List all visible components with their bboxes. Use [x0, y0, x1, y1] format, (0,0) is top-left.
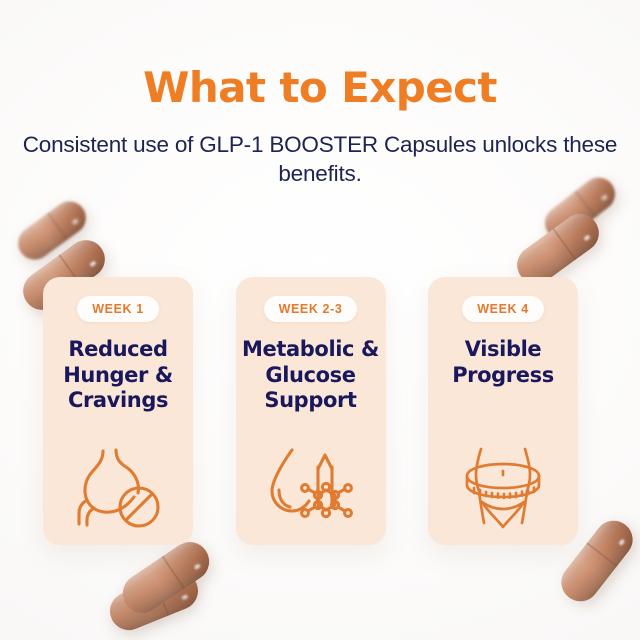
page-subtitle-text: Consistent use of GLP-1 BOOSTER Capsules… — [23, 132, 617, 186]
benefit-title: Metabolic & Glucose Support — [236, 337, 386, 414]
benefit-card-week-2-3[interactable]: WEEK 2-3 Metabolic & Glucose Support — [236, 277, 386, 545]
week-badge: WEEK 1 — [77, 296, 159, 322]
header: What to Expect Consistent use of GLP-1 B… — [0, 66, 640, 188]
week-badge: WEEK 2-3 — [264, 296, 358, 322]
benefit-title: Visible Progress — [428, 337, 578, 388]
page-subtitle: Consistent use of GLP-1 BOOSTER Capsules… — [0, 130, 640, 189]
page-title: What to Expect — [0, 66, 640, 111]
waist-measuring-tape-icon — [428, 439, 578, 531]
benefit-title: Reduced Hunger & Cravings — [43, 337, 193, 414]
benefit-card-week-1[interactable]: WEEK 1 Reduced Hunger & Cravings — [43, 277, 193, 545]
benefit-card-week-4[interactable]: WEEK 4 Visible Progress — [428, 277, 578, 545]
stomach-no-entry-icon — [43, 439, 193, 531]
benefit-cards: WEEK 1 Reduced Hunger & Cravings WEEK 2-… — [43, 277, 578, 545]
week-badge: WEEK 4 — [462, 296, 544, 322]
promo-graphic: What to Expect Consistent use of GLP-1 B… — [0, 0, 640, 640]
droplet-arrow-molecule-icon — [236, 439, 386, 531]
